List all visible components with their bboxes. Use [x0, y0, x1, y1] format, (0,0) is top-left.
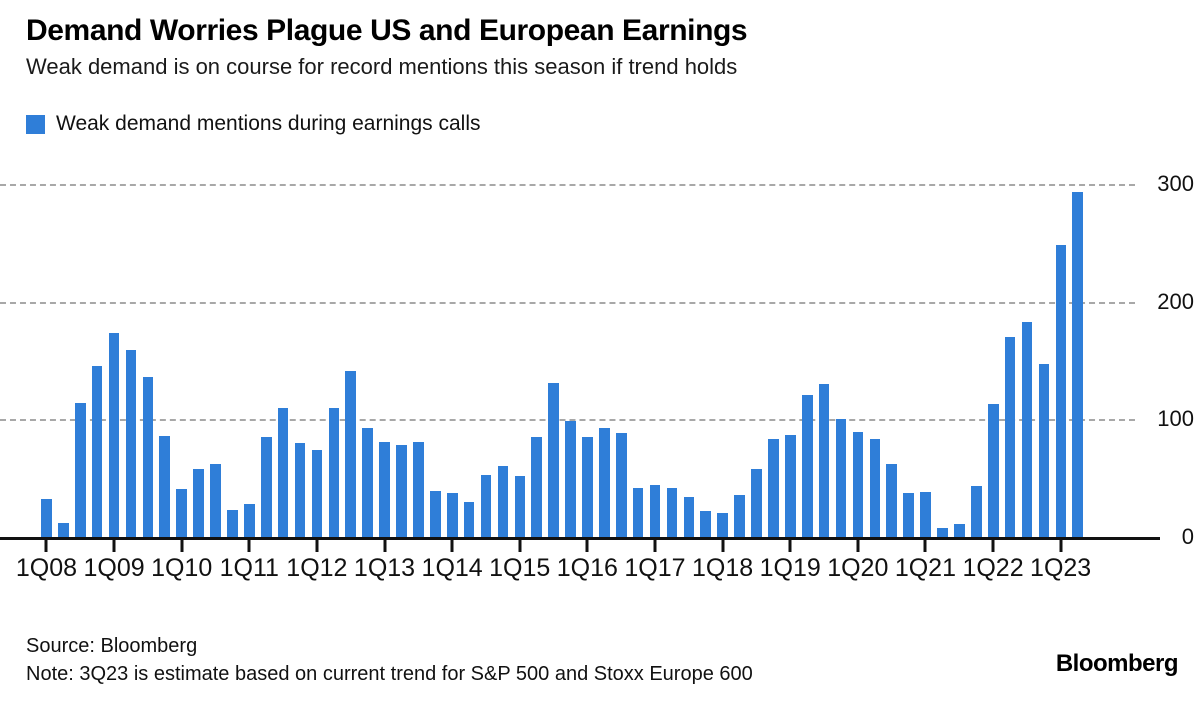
x-axis-tick-1Q12 — [315, 540, 318, 552]
legend-label: Weak demand mentions during earnings cal… — [56, 112, 481, 136]
bar-1Q10 — [176, 489, 187, 537]
y-axis-label-200: 200 — [1157, 289, 1194, 315]
note-text: Note: 3Q23 is estimate based on current … — [26, 660, 1176, 688]
bar-slot — [444, 184, 461, 537]
page-title: Demand Worries Plague US and European Ea… — [26, 14, 1166, 48]
bar-3Q21 — [954, 524, 965, 537]
bar-slot — [207, 184, 224, 537]
bar-slot — [748, 184, 765, 537]
bar-2Q20 — [870, 439, 881, 537]
bar-4Q15 — [565, 421, 576, 537]
bar-slot — [1069, 184, 1086, 537]
bar-slot — [89, 184, 106, 537]
plot-area: 0100200300 1Q081Q091Q101Q111Q121Q131Q141… — [0, 150, 1200, 605]
x-axis-tick-1Q11 — [248, 540, 251, 552]
bar-4Q09 — [159, 436, 170, 537]
x-axis-tick-1Q17 — [653, 540, 656, 552]
x-axis-label-1Q13: 1Q13 — [354, 554, 415, 583]
bar-slot — [833, 184, 850, 537]
bar-slot — [596, 184, 613, 537]
bar-slot — [224, 184, 241, 537]
bar-slot — [190, 184, 207, 537]
bar-1Q11 — [244, 504, 255, 537]
bar-3Q08 — [75, 403, 86, 537]
bar-2Q12 — [329, 408, 340, 537]
bar-4Q16 — [633, 488, 644, 537]
bar-slot — [292, 184, 309, 537]
x-axis-tick-1Q21 — [924, 540, 927, 552]
x-axis-label-1Q12: 1Q12 — [286, 554, 347, 583]
page-subtitle: Weak demand is on course for record ment… — [26, 54, 1166, 80]
x-axis-tick-1Q18 — [721, 540, 724, 552]
bar-4Q10 — [227, 510, 238, 537]
bar-2Q10 — [193, 469, 204, 537]
bar-slot — [613, 184, 630, 537]
bar-2Q09 — [126, 350, 137, 537]
bar-2Q21 — [937, 528, 948, 537]
chart-page: Demand Worries Plague US and European Ea… — [0, 0, 1200, 706]
x-axis-tick-1Q16 — [586, 540, 589, 552]
bar-1Q17 — [650, 485, 661, 537]
bar-1Q22 — [988, 404, 999, 537]
bloomberg-logo: Bloomberg — [1056, 650, 1178, 678]
bar-slot — [866, 184, 883, 537]
y-axis-label-100: 100 — [1157, 406, 1194, 432]
bar-3Q17 — [684, 497, 695, 537]
bar-slot — [985, 184, 1002, 537]
bar-slot — [714, 184, 731, 537]
x-axis-tick-1Q20 — [856, 540, 859, 552]
y-axis-label-300: 300 — [1157, 171, 1194, 197]
bar-slot — [934, 184, 951, 537]
bar-2Q17 — [667, 488, 678, 537]
bar-4Q19 — [836, 419, 847, 537]
bar-slot — [528, 184, 545, 537]
bar-slot — [275, 184, 292, 537]
bar-slot — [951, 184, 968, 537]
x-axis-tick-1Q10 — [180, 540, 183, 552]
plot-inner — [38, 184, 1086, 537]
bar-1Q12 — [312, 450, 323, 537]
x-axis-label-1Q15: 1Q15 — [489, 554, 550, 583]
x-axis-tick-1Q22 — [992, 540, 995, 552]
x-axis-tick-1Q23 — [1059, 540, 1062, 552]
bar-slot — [782, 184, 799, 537]
bar-2Q16 — [599, 428, 610, 537]
bar-slot — [106, 184, 123, 537]
bar-slot — [38, 184, 55, 537]
bar-slot — [258, 184, 275, 537]
x-axis-label-1Q17: 1Q17 — [624, 554, 685, 583]
bar-slot — [850, 184, 867, 537]
bar-slot — [461, 184, 478, 537]
bar-slot — [173, 184, 190, 537]
bar-3Q22 — [1022, 322, 1033, 537]
bar-1Q09 — [109, 333, 120, 537]
bar-slot — [494, 184, 511, 537]
bar-slot — [647, 184, 664, 537]
bar-slot — [765, 184, 782, 537]
bar-slot — [900, 184, 917, 537]
bar-series — [38, 184, 1086, 537]
bar-4Q20 — [903, 493, 914, 537]
bar-1Q16 — [582, 437, 593, 537]
bar-slot — [156, 184, 173, 537]
bar-1Q18 — [717, 513, 728, 537]
bar-slot — [342, 184, 359, 537]
x-axis-tick-1Q08 — [45, 540, 48, 552]
x-axis-tick-1Q14 — [451, 540, 454, 552]
bar-2Q22 — [1005, 337, 1016, 537]
bar-4Q11 — [295, 443, 306, 537]
bar-slot — [376, 184, 393, 537]
bar-3Q19 — [819, 384, 830, 537]
x-axis-tick-1Q13 — [383, 540, 386, 552]
bar-4Q21 — [971, 486, 982, 537]
bar-slot — [1052, 184, 1069, 537]
bar-3Q20 — [886, 464, 897, 537]
bar-3Q15 — [548, 383, 559, 537]
x-axis-label-1Q14: 1Q14 — [422, 554, 483, 583]
bar-2Q14 — [464, 502, 475, 537]
bar-slot — [731, 184, 748, 537]
bar-4Q12 — [362, 428, 373, 537]
bar-slot — [562, 184, 579, 537]
bar-slot — [579, 184, 596, 537]
chart-legend: Weak demand mentions during earnings cal… — [26, 112, 481, 136]
bar-3Q11 — [278, 408, 289, 537]
x-axis-label-1Q09: 1Q09 — [83, 554, 144, 583]
bar-1Q20 — [853, 432, 864, 537]
bar-slot — [680, 184, 697, 537]
x-axis-labels: 1Q081Q091Q101Q111Q121Q131Q141Q151Q161Q17… — [38, 554, 1086, 588]
bar-slot — [241, 184, 258, 537]
bar-1Q21 — [920, 492, 931, 537]
chart-header: Demand Worries Plague US and European Ea… — [26, 14, 1166, 80]
legend-swatch-icon — [26, 115, 45, 134]
x-axis-label-1Q18: 1Q18 — [692, 554, 753, 583]
source-text: Source: Bloomberg — [26, 632, 1176, 660]
x-axis-tick-1Q19 — [789, 540, 792, 552]
bar-slot — [1019, 184, 1036, 537]
bar-1Q23 — [1056, 245, 1067, 537]
bar-slot — [968, 184, 985, 537]
x-axis-label-1Q22: 1Q22 — [962, 554, 1023, 583]
bar-1Q14 — [447, 493, 458, 537]
bar-2Q13 — [396, 445, 407, 537]
bar-slot — [72, 184, 89, 537]
bar-slot — [664, 184, 681, 537]
bar-slot — [917, 184, 934, 537]
bar-slot — [325, 184, 342, 537]
bar-1Q19 — [785, 435, 796, 537]
bar-slot — [545, 184, 562, 537]
bar-slot — [630, 184, 647, 537]
bar-4Q22 — [1039, 364, 1050, 537]
bar-3Q12 — [345, 371, 356, 537]
x-axis-label-1Q11: 1Q11 — [220, 554, 279, 583]
bar-1Q15 — [515, 476, 526, 537]
bar-slot — [1035, 184, 1052, 537]
bar-slot — [883, 184, 900, 537]
bar-3Q13 — [413, 442, 424, 537]
y-axis-label-0: 0 — [1182, 524, 1194, 550]
bar-2Q08 — [58, 523, 69, 537]
bar-2Q11 — [261, 437, 272, 537]
bar-slot — [478, 184, 495, 537]
bar-4Q08 — [92, 366, 103, 537]
bar-slot — [1002, 184, 1019, 537]
bar-slot — [697, 184, 714, 537]
x-axis-label-1Q16: 1Q16 — [557, 554, 618, 583]
bar-3Q16 — [616, 433, 627, 537]
bar-slot — [55, 184, 72, 537]
bar-slot — [427, 184, 444, 537]
bar-slot — [309, 184, 326, 537]
bar-2Q19 — [802, 395, 813, 537]
bar-slot — [511, 184, 528, 537]
bar-slot — [816, 184, 833, 537]
bar-4Q14 — [498, 466, 509, 537]
x-axis-tick-1Q09 — [113, 540, 116, 552]
bar-3Q14 — [481, 475, 492, 537]
bar-4Q17 — [700, 511, 711, 537]
bar-2Q18 — [734, 495, 745, 537]
x-axis-tick-1Q15 — [518, 540, 521, 552]
bar-1Q08 — [41, 499, 52, 537]
bar-4Q13 — [430, 491, 441, 537]
x-axis-label-1Q21: 1Q21 — [895, 554, 956, 583]
bar-slot — [359, 184, 376, 537]
bar-4Q18 — [768, 439, 779, 537]
bar-slot — [393, 184, 410, 537]
bar-slot — [799, 184, 816, 537]
bar-slot — [123, 184, 140, 537]
chart-footer: Source: Bloomberg Note: 3Q23 is estimate… — [26, 632, 1176, 689]
x-axis-ticks — [38, 540, 1086, 552]
bar-3Q18 — [751, 469, 762, 537]
x-axis-label-1Q19: 1Q19 — [760, 554, 821, 583]
x-axis-label-1Q10: 1Q10 — [151, 554, 212, 583]
bar-slot — [139, 184, 156, 537]
x-axis-label-1Q23: 1Q23 — [1030, 554, 1091, 583]
x-axis-label-1Q08: 1Q08 — [16, 554, 77, 583]
x-axis-label-1Q20: 1Q20 — [827, 554, 888, 583]
bar-3Q09 — [143, 377, 154, 537]
bar-3Q10 — [210, 464, 221, 537]
bar-slot — [410, 184, 427, 537]
bar-2Q15 — [531, 437, 542, 537]
bar-2Q23 — [1072, 192, 1083, 537]
bar-1Q13 — [379, 442, 390, 537]
